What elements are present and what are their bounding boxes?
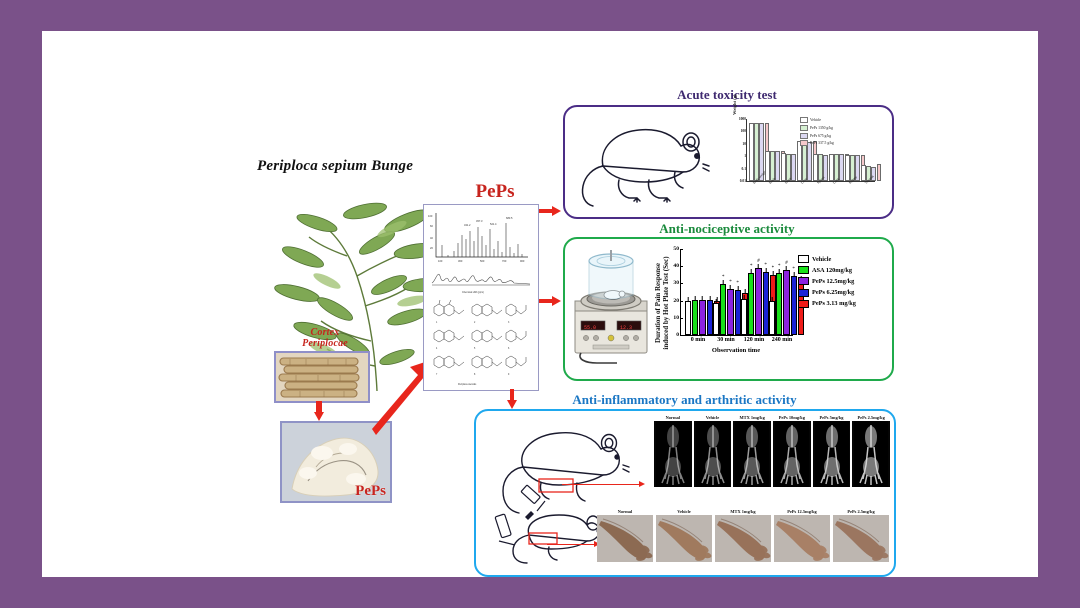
paw-photo-column-header: MTX 1mg/kg <box>715 509 771 514</box>
noci-chart-ytick: 30 <box>673 280 681 286</box>
svg-text:100: 100 <box>438 259 443 263</box>
acute-chart-ytick: 10 <box>742 142 747 146</box>
noci-chart-legend-swatch <box>798 300 809 308</box>
noci-chart-error-bar <box>751 269 752 274</box>
noci-chart-legend-label: ASA 120mg/kg <box>812 267 852 274</box>
xray-column: Normal <box>654 415 692 487</box>
acute-chart-legend-item: PePs 675 g/kg <box>800 133 834 139</box>
paw-photo-column: Vehicle <box>656 509 712 562</box>
svg-text:521.4: 521.4 <box>490 222 497 226</box>
xray-image <box>773 421 811 487</box>
noci-chart-significance-marker: * <box>792 267 795 272</box>
noci-chart-bar <box>741 299 747 335</box>
chemical-structure-and-nmr-spectrum-panel: 10060 4020 341.2457.3 521.4683.5 100300 … <box>423 204 539 391</box>
acute-chart-legend-label: PePs 337.5 g/kg <box>810 141 834 145</box>
cortex-periplocae-label: Cortex Periplocae <box>270 327 380 349</box>
acute-chart-ytick: 1000 <box>739 117 747 121</box>
arrow-mouse-to-xray-head <box>639 481 645 487</box>
paw-photo-column-header: PePs 2.5mg/kg <box>833 509 889 514</box>
acute-chart-bar <box>877 164 882 181</box>
arrow-cortex-to-powder-head <box>314 412 324 421</box>
noci-chart-bar: * <box>763 272 769 335</box>
xray-column-header: PePs 5mg/kg <box>813 415 851 420</box>
noci-chart-error-bar <box>786 266 787 271</box>
acute-toxicity-title: Acute toxicity test <box>567 87 887 103</box>
acute-chart-bar <box>775 151 780 181</box>
acute-chart-legend-item: PePs 337.5 g/kg <box>800 140 834 146</box>
noci-chart-legend-swatch <box>798 266 809 274</box>
noci-chart-bar <box>699 300 705 335</box>
xray-column-header: MTX 1mg/kg <box>733 415 771 420</box>
acute-chart-ytick: 100 <box>741 129 747 133</box>
noci-chart-legend: VehicleASA 120mg/kgPePs 12.5mg/kgPePs 6.… <box>798 255 856 311</box>
paw-photo-column: PePs 12.5mg/kg <box>774 509 830 562</box>
noci-chart-error-bar <box>758 264 759 269</box>
acute-chart-ytick: 1 <box>744 154 747 158</box>
paw-photo-image <box>833 515 889 562</box>
anti-nociceptive-title: Anti-nociceptive activity <box>567 221 887 237</box>
cortex-periplocae-image <box>274 351 370 403</box>
paw-photo-column-header: PePs 12.5mg/kg <box>774 509 830 514</box>
acute-chart-bar <box>845 155 850 181</box>
arrow-to-nociceptive-shaft <box>539 299 553 303</box>
noci-chart-legend-item: Vehicle <box>798 255 856 263</box>
noci-chart-significance-marker: * <box>736 281 739 286</box>
xray-column: PePs 5mg/kg <box>813 415 851 487</box>
noci-chart-error-bar <box>688 297 689 302</box>
noci-chart-ylabel: Duration of Pain Response induced by Hot… <box>654 247 670 359</box>
xray-image-row: NormalVehicleMTX 1mg/kgPePs 10mg/kgPePs … <box>654 415 892 495</box>
noci-chart-ytick: 40 <box>673 263 681 269</box>
arrow-to-nociceptive-head <box>552 296 561 306</box>
paw-photo-image <box>774 515 830 562</box>
acute-chart-bar <box>754 123 759 181</box>
noci-chart-ytick: 0 <box>676 332 681 338</box>
species-title: Periploca sepium Bunge <box>257 158 487 175</box>
mouse-line-drawing <box>575 116 715 208</box>
acute-chart-legend: VehiclePePs 1350 g/kgPePs 675 g/kgPePs 3… <box>800 117 834 148</box>
paw-photo-column-header: Vehicle <box>656 509 712 514</box>
noci-chart-xtick: 30 min <box>717 337 735 343</box>
noci-chart-bar <box>692 300 698 335</box>
noci-chart-significance-marker: * <box>778 264 781 269</box>
noci-chart-legend-label: PePs 12.5mg/kg <box>812 278 854 285</box>
hot-plate-test-chart: Duration of Pain Response induced by Hot… <box>654 243 886 371</box>
xray-image <box>654 421 692 487</box>
noci-chart-bar <box>707 300 713 335</box>
acute-chart-bar <box>749 123 754 181</box>
svg-text:Chemical shift (ppm): Chemical shift (ppm) <box>462 291 484 294</box>
noci-chart-ytick: 20 <box>673 298 681 304</box>
acute-chart-legend-item: PePs 1350 g/kg <box>800 125 834 131</box>
acute-chart-bar <box>829 154 834 181</box>
acute-chart-legend-swatch <box>800 117 808 123</box>
svg-text:300: 300 <box>458 259 463 263</box>
arrow-to-acute-shaft <box>539 209 553 213</box>
noci-chart-legend-label: PePs 6.25mg/kg <box>812 289 854 296</box>
noci-chart-significance-marker: * <box>764 263 767 268</box>
figure-canvas: Periploca sepium Bunge <box>42 31 1038 577</box>
noci-chart-significance-marker: * <box>729 280 732 285</box>
noci-chart-bar: # <box>783 270 789 335</box>
noci-chart-error-bar <box>702 296 703 301</box>
noci-chart-bar <box>769 301 775 335</box>
center-peps-title: PePs <box>440 181 550 203</box>
xray-column: PePs 2.5mg/kg <box>852 415 890 487</box>
noci-chart-error-bar <box>772 297 773 302</box>
acute-chart-legend-label: PePs 1350 g/kg <box>810 126 833 130</box>
noci-chart-xtick: 240 min <box>772 337 793 343</box>
noci-chart-bar: * <box>748 273 754 335</box>
noci-ylabel-line2: induced by Hot Plate Test (Sec) <box>662 247 670 359</box>
noci-chart-error-bar <box>793 272 794 277</box>
noci-chart-significance-marker: # <box>785 261 788 266</box>
noci-chart-error-bar <box>723 280 724 285</box>
acute-chart-bar <box>765 151 770 181</box>
svg-text:341.2: 341.2 <box>464 223 471 227</box>
acute-chart-bar-group: Thymus <box>861 119 881 181</box>
acute-chart-bar <box>839 154 844 181</box>
svg-text:700: 700 <box>502 259 507 263</box>
paw-photo-image <box>715 515 771 562</box>
arrow-to-acute-head <box>552 206 561 216</box>
noci-chart-bar: # <box>755 268 761 335</box>
xray-column-header: Vehicle <box>694 415 732 420</box>
xray-image <box>852 421 890 487</box>
paw-photo-column-header: Normal <box>597 509 653 514</box>
arrow-mouse-to-xray-shaft <box>562 484 640 485</box>
anti-inflammatory-title: Anti-inflammatory and arthritic activity <box>477 392 892 408</box>
xray-column-header: Normal <box>654 415 692 420</box>
svg-text:100: 100 <box>428 214 433 218</box>
svg-text:683.5: 683.5 <box>506 216 513 220</box>
acute-chart-legend-label: PePs 675 g/kg <box>810 134 831 138</box>
acute-chart-legend-swatch <box>800 125 808 131</box>
paw-photo-column: PePs 2.5mg/kg <box>833 509 889 562</box>
noci-chart-legend-item: ASA 120mg/kg <box>798 266 856 274</box>
noci-ylabel-line1: Duration of Pain Response <box>654 247 662 359</box>
noci-chart-legend-item: PePs 12.5mg/kg <box>798 277 856 285</box>
acute-chart-bar <box>791 154 796 181</box>
noci-chart-legend-label: Vehicle <box>812 256 831 263</box>
noci-chart-legend-item: PePs 6.25mg/kg <box>798 289 856 297</box>
xray-image <box>813 421 851 487</box>
cortex-label-line1: Cortex <box>311 327 340 338</box>
noci-chart-bar: * <box>791 276 797 335</box>
acute-chart-bar <box>781 153 786 181</box>
paw-photo-column: MTX 1mg/kg <box>715 509 771 562</box>
noci-chart-significance-marker: * <box>722 275 725 280</box>
noci-chart-error-bar <box>695 296 696 301</box>
paw-photo-image <box>597 515 653 562</box>
acute-chart-ytick: 0.1 <box>742 167 748 171</box>
xray-column: Vehicle <box>694 415 732 487</box>
noci-chart-legend-item: PePs 3.13 mg/kg <box>798 300 856 308</box>
noci-chart-error-bar <box>716 299 717 304</box>
hot-plate-analgesia-meter: 55.012.3 <box>569 245 653 367</box>
peps-powder-label: PePs <box>355 483 386 500</box>
acute-chart-legend-swatch <box>800 133 808 139</box>
xray-column: PePs 10mg/kg <box>773 415 811 487</box>
noci-chart-xtick: 0 min <box>691 337 706 343</box>
noci-chart-xtick: 120 min <box>744 337 765 343</box>
acute-chart-bar <box>861 165 866 181</box>
noci-chart-legend-swatch <box>798 277 809 285</box>
noci-chart-error-bar <box>737 286 738 291</box>
noci-chart-bar: * <box>735 290 741 335</box>
noci-chart-ytick: 50 <box>673 246 681 252</box>
noci-chart-error-bar <box>779 269 780 274</box>
noci-chart-error-bar <box>765 268 766 273</box>
noci-chart-error-bar <box>709 296 710 301</box>
noci-chart-legend-swatch <box>798 255 809 263</box>
noci-chart-bar: * <box>776 273 782 335</box>
svg-text:Periploca steroids: Periploca steroids <box>458 383 477 386</box>
noci-chart-ytick: 10 <box>673 315 681 321</box>
paw-photo-row: NormalVehicleMTX 1mg/kgPePs 12.5mg/kgPeP… <box>597 509 892 567</box>
xray-column-header: PePs 10mg/kg <box>773 415 811 420</box>
acute-chart-ylabel: Weight (g) <box>732 0 737 115</box>
svg-text:55.0: 55.0 <box>584 325 596 331</box>
svg-text:457.3: 457.3 <box>476 219 483 223</box>
arrow-mouse-to-photo-shaft <box>547 544 595 545</box>
acute-toxicity-chart: Weight (g) 10001001010.10.01Body weightB… <box>732 115 882 209</box>
xray-column-header: PePs 2.5mg/kg <box>852 415 890 420</box>
acute-chart-bar <box>813 154 818 181</box>
noci-chart-bar <box>685 301 691 335</box>
xray-column: MTX 1mg/kg <box>733 415 771 487</box>
xray-image <box>694 421 732 487</box>
acute-chart-legend-item: Vehicle <box>800 117 834 123</box>
acute-chart-ytick: 0.01 <box>740 179 747 183</box>
noci-chart-bar <box>713 303 719 335</box>
paw-photo-image <box>656 515 712 562</box>
acute-chart-legend-label: Vehicle <box>810 118 821 122</box>
svg-text:900: 900 <box>520 259 525 263</box>
noci-chart-bar: * <box>727 289 733 335</box>
noci-chart-plot: 010203040500 min***30 min*#**120 min*#**… <box>680 249 793 336</box>
svg-text:500: 500 <box>480 259 485 263</box>
noci-chart-significance-marker: # <box>757 259 760 264</box>
noci-chart-bar: * <box>720 284 726 335</box>
noci-chart-xlabel: Observation time <box>680 347 792 354</box>
noci-chart-error-bar <box>730 285 731 290</box>
svg-text:12.3: 12.3 <box>620 325 632 331</box>
noci-chart-error-bar <box>744 295 745 300</box>
acute-chart-legend-swatch <box>800 140 808 146</box>
noci-chart-legend-swatch <box>798 289 809 297</box>
paw-photo-column: Normal <box>597 509 653 562</box>
cortex-label-line2: Periplocae <box>302 338 348 349</box>
noci-chart-significance-marker: * <box>750 264 753 269</box>
noci-chart-legend-label: PePs 3.13 mg/kg <box>812 300 856 307</box>
xray-image <box>733 421 771 487</box>
